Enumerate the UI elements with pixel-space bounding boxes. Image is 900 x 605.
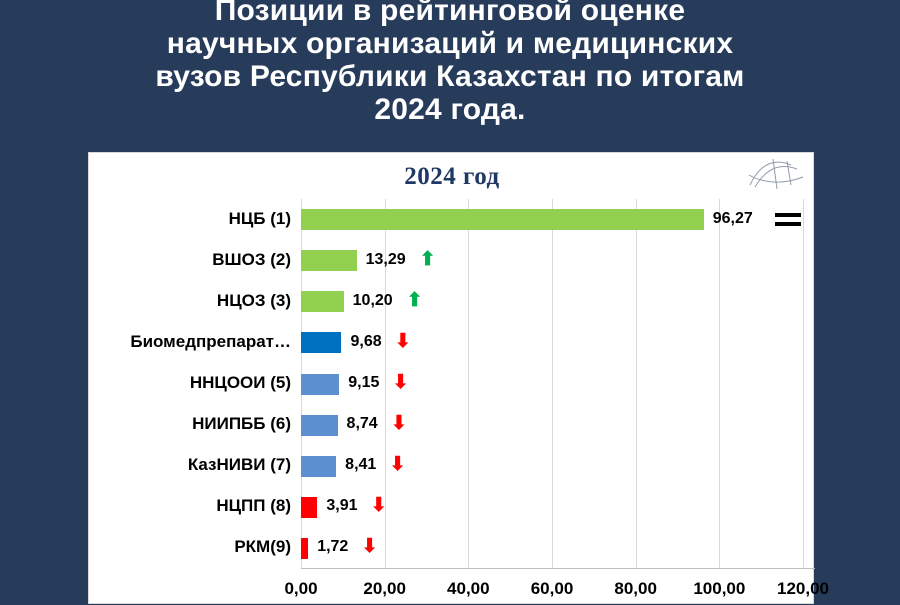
x-axis-tick-label: 80,00	[614, 579, 657, 599]
trend-arrow-down-icon: ⬇	[395, 332, 411, 351]
category-label: ННЦООИ (5)	[81, 373, 291, 393]
bar	[301, 374, 339, 395]
slide-title-line-4: 2024 года.	[0, 93, 900, 126]
trend-arrow-down-icon: ⬇	[362, 537, 378, 556]
category-label: НЦПП (8)	[81, 496, 291, 516]
chart-plot-area: 0,0020,0040,0060,0080,00100,00120,0096,2…	[89, 199, 815, 605]
gridline	[636, 199, 637, 569]
bar-value-label: 9,68	[350, 333, 381, 351]
gridline	[803, 199, 804, 569]
slide-title-line-1: Позиции в рейтинговой оценке	[0, 0, 900, 27]
bar	[301, 332, 341, 353]
trend-arrow-up-icon: ⬆	[420, 250, 436, 269]
bars-area: 0,0020,0040,0060,0080,00100,00120,0096,2…	[301, 199, 815, 605]
category-label: КазНИВИ (7)	[81, 455, 291, 475]
bar	[301, 250, 357, 271]
slide-title: Позиции в рейтинговой оценке научных орг…	[0, 0, 900, 126]
bar	[301, 415, 338, 436]
slide-title-line-2: научных организаций и медицинских	[0, 27, 900, 60]
bar	[301, 291, 344, 312]
bar-value-label: 10,20	[353, 292, 393, 310]
x-axis-tick-label: 0,00	[284, 579, 317, 599]
bar	[301, 497, 317, 518]
bar	[301, 538, 308, 559]
category-label: НЦОЗ (3)	[81, 291, 291, 311]
flat-trend-marker-icon	[775, 222, 801, 226]
category-label: РКМ(9)	[81, 537, 291, 557]
category-label: НИИПББ (6)	[81, 414, 291, 434]
bar-value-label: 9,15	[348, 374, 379, 392]
x-axis-tick-label: 40,00	[447, 579, 490, 599]
x-axis-tick-label: 120,00	[777, 579, 829, 599]
category-label: ВШОЗ (2)	[81, 250, 291, 270]
category-label: НЦБ (1)	[81, 209, 291, 229]
gridline	[468, 199, 469, 569]
slide-title-line-3: вузов Республики Казахстан по итогам	[0, 60, 900, 93]
x-axis-tick-label: 20,00	[363, 579, 406, 599]
bar-value-label: 8,41	[345, 456, 376, 474]
category-label: Биомедпрепарат…	[81, 332, 291, 352]
axis-baseline	[301, 568, 815, 569]
trend-arrow-down-icon: ⬇	[371, 496, 387, 515]
bar	[301, 209, 704, 230]
flat-trend-marker-icon	[775, 213, 801, 217]
x-axis-tick-label: 60,00	[531, 579, 574, 599]
bar-value-label: 1,72	[317, 538, 348, 556]
bar-value-label: 3,91	[326, 497, 357, 515]
bar-value-label: 13,29	[366, 251, 406, 269]
logo-scribble-icon	[747, 155, 807, 191]
trend-arrow-down-icon: ⬇	[393, 373, 409, 392]
trend-arrow-up-icon: ⬆	[407, 291, 423, 310]
trend-arrow-down-icon: ⬇	[391, 414, 407, 433]
trend-arrow-down-icon: ⬇	[390, 455, 406, 474]
gridline	[552, 199, 553, 569]
chart-title: 2024 год	[89, 163, 815, 191]
gridline	[719, 199, 720, 569]
chart-panel: 2024 год 0,0020,0040,0060,0080,00100,001…	[88, 152, 814, 604]
bar-value-label: 96,27	[713, 210, 753, 228]
bar-value-label: 8,74	[347, 415, 378, 433]
bar	[301, 456, 336, 477]
x-axis-tick-label: 100,00	[693, 579, 745, 599]
